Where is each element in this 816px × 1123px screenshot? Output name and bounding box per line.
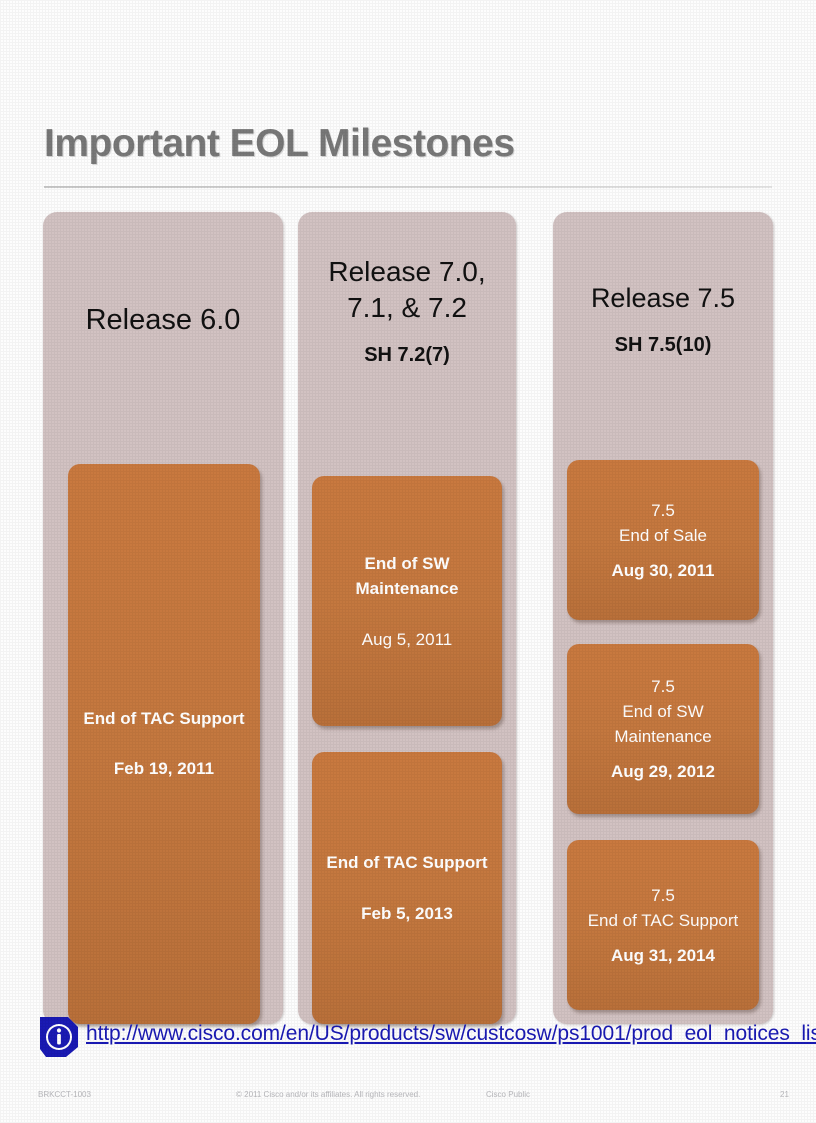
milestone-columns: Release 6.0 End of TAC Support Feb 19, 2…: [43, 212, 773, 1024]
card-line-date: Aug 5, 2011: [312, 627, 502, 652]
card-line-date: Feb 5, 2013: [312, 901, 502, 926]
card-line-spacer: [312, 875, 502, 901]
column-header-release-6-0: Release 6.0: [43, 302, 283, 338]
column-heading-line-1: Release 7.0,: [304, 254, 510, 290]
column-header-release-7-0-7-1-7-2: Release 7.0, 7.1, & 7.2 SH 7.2(7): [298, 254, 516, 367]
column-heading: Release 6.0: [49, 302, 277, 338]
card-line-spacer: [312, 601, 502, 627]
card-line-label: End of TAC Support: [567, 908, 759, 933]
card-line-date: Aug 30, 2011: [567, 558, 759, 583]
page-title: Important EOL Milestones: [44, 122, 515, 166]
title-divider: [44, 186, 772, 188]
info-icon: [38, 1013, 82, 1059]
column-subheading: SH 7.2(7): [304, 344, 510, 367]
milestone-card-eol-sw-maintenance-7-5: 7.5 End of SW Maintenance Aug 29, 2012: [567, 644, 759, 814]
column-release-7-0-7-1-7-2: Release 7.0, 7.1, & 7.2 SH 7.2(7) End of…: [298, 212, 516, 1024]
column-heading: Release 7.5: [559, 280, 767, 316]
card-line-spacer: [567, 548, 759, 558]
column-release-6-0: Release 6.0 End of TAC Support Feb 19, 2…: [43, 212, 283, 1024]
milestone-card-eos-7-5: 7.5 End of Sale Aug 30, 2011: [567, 460, 759, 620]
column-header-release-7-5: Release 7.5 SH 7.5(10): [553, 280, 773, 357]
card-line-date: Aug 31, 2014: [567, 943, 759, 968]
card-line-label: End of TAC Support: [68, 707, 260, 731]
card-line-label: End of Sale: [567, 523, 759, 548]
footer-page-number: 21: [780, 1090, 789, 1099]
eol-notices-link[interactable]: http://www.cisco.com/en/US/products/sw/c…: [86, 1022, 816, 1046]
column-release-7-5: Release 7.5 SH 7.5(10) 7.5 End of Sale A…: [553, 212, 773, 1024]
slide-canvas: Important EOL Milestones Release 6.0 End…: [0, 0, 816, 1123]
footer-classification: Cisco Public: [486, 1090, 530, 1099]
card-line-spacer: [567, 749, 759, 759]
card-line-date: Feb 19, 2011: [68, 757, 260, 781]
card-line-label-1: End of SW: [312, 551, 502, 576]
card-line-release: 7.5: [567, 674, 759, 699]
card-line-label-2: Maintenance: [312, 576, 502, 601]
card-line-release: 7.5: [567, 883, 759, 908]
reference-link-row: http://www.cisco.com/en/US/products/sw/c…: [38, 1013, 798, 1059]
footer-copyright: © 2011 Cisco and/or its affiliates. All …: [236, 1090, 420, 1099]
milestone-card-eol-tac-support-7-2: End of TAC Support Feb 5, 2013: [312, 752, 502, 1024]
card-line-spacer: [68, 731, 260, 757]
milestone-card-eol-tac-support-6-0: End of TAC Support Feb 19, 2011: [68, 464, 260, 1024]
card-line-label-1: End of SW: [567, 699, 759, 724]
milestone-card-eol-sw-maintenance-7-2: End of SW Maintenance Aug 5, 2011: [312, 476, 502, 726]
column-subheading: SH 7.5(10): [559, 334, 767, 357]
card-line-release: 7.5: [567, 498, 759, 523]
card-line-date: Aug 29, 2012: [567, 759, 759, 784]
card-line-spacer: [567, 933, 759, 943]
card-line-label: End of TAC Support: [312, 850, 502, 875]
milestone-card-eol-tac-support-7-5: 7.5 End of TAC Support Aug 31, 2014: [567, 840, 759, 1010]
footer-session-id: BRKCCT-1003: [38, 1090, 91, 1099]
card-line-label-2: Maintenance: [567, 724, 759, 749]
column-heading-line-2: 7.1, & 7.2: [304, 290, 510, 326]
slide-footer: BRKCCT-1003 © 2011 Cisco and/or its affi…: [0, 1086, 816, 1110]
